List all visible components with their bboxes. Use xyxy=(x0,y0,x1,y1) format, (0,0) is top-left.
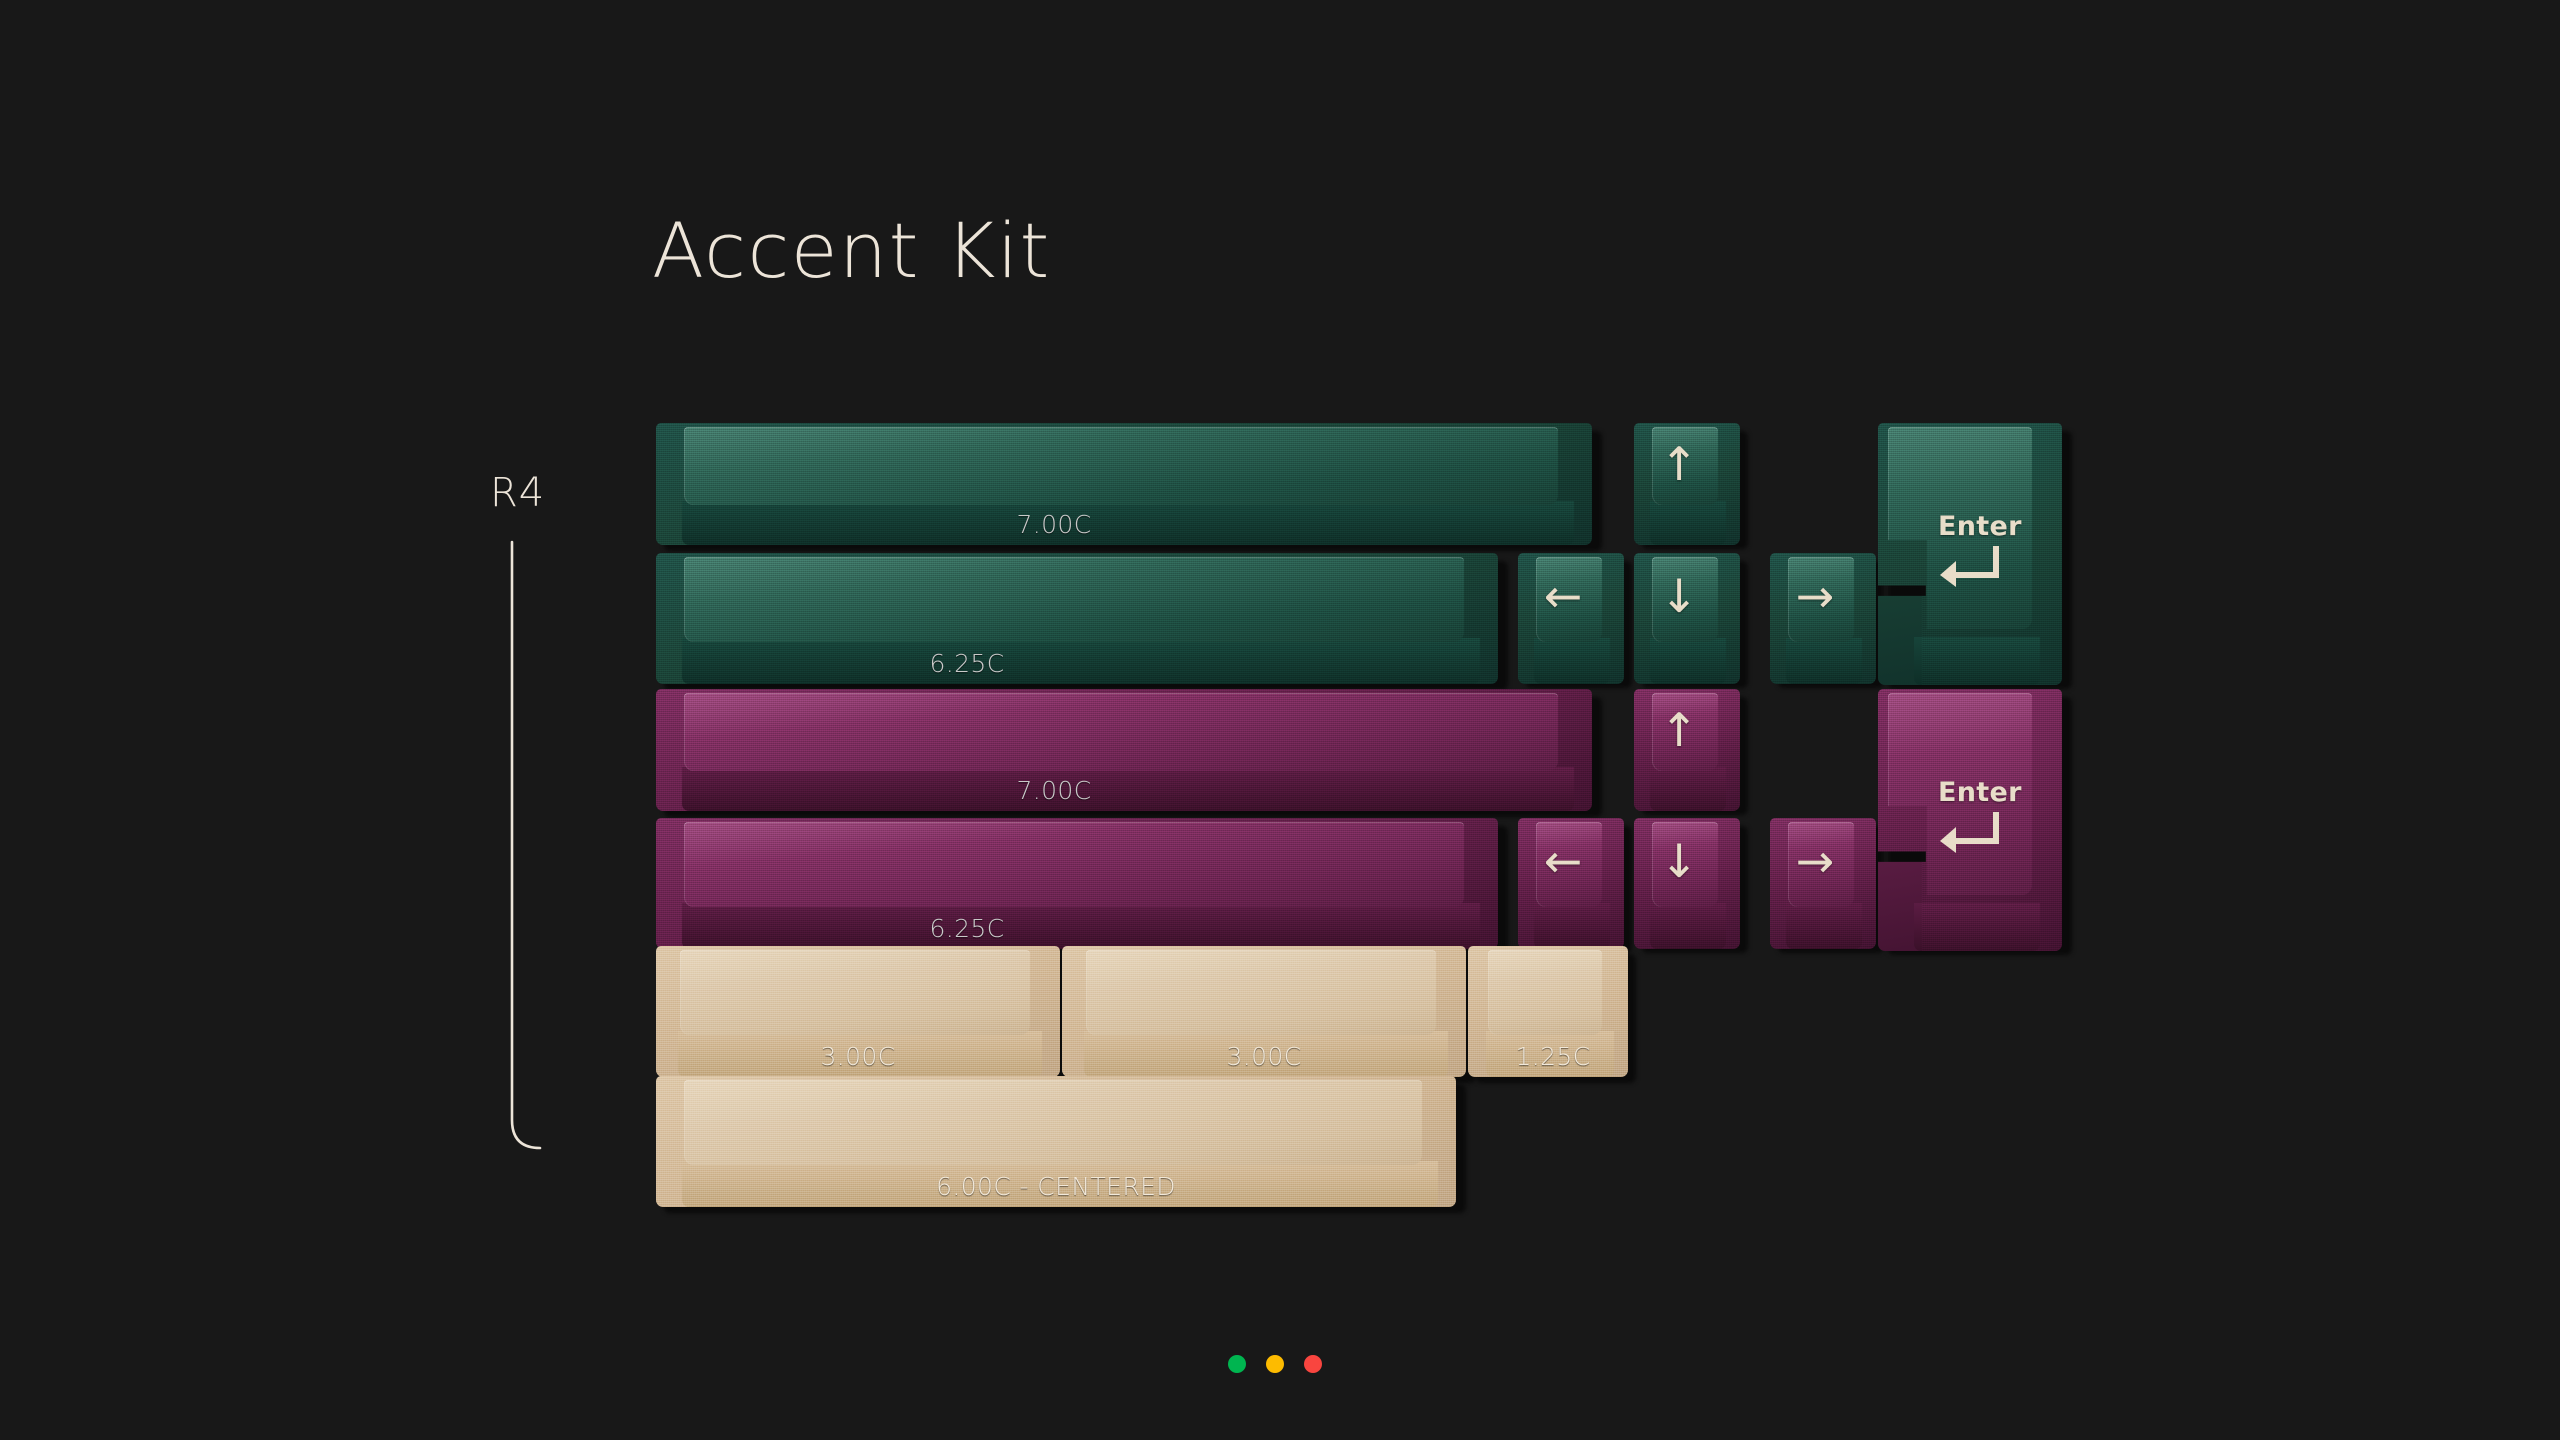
keycap-green-arrow-up[interactable]: ↑ xyxy=(1634,423,1740,545)
cap-size-label: 6.00C - CENTERED xyxy=(656,1172,1456,1201)
keycap-green-enter-iso[interactable]: Enter xyxy=(1878,423,2062,685)
arrow-left-icon: ← xyxy=(1518,838,1608,884)
cap-top-face xyxy=(684,557,1464,642)
cap-top-face xyxy=(684,822,1464,907)
arrow-down-icon: ↓ xyxy=(1634,838,1724,884)
green-dot[interactable] xyxy=(1228,1355,1246,1373)
keycap-beige-125u[interactable]: 1.25C xyxy=(1468,946,1628,1077)
keycap-purple-arrow-down[interactable]: ↓ xyxy=(1634,818,1740,949)
enter-label: Enter xyxy=(1938,779,2022,806)
enter-label: Enter xyxy=(1938,513,2022,540)
cap-size-label: 3.00C xyxy=(656,1042,1060,1071)
keycap-purple-arrow-up[interactable]: ↑ xyxy=(1634,689,1740,811)
arrow-up-icon: ↑ xyxy=(1634,707,1724,753)
cap-top-face xyxy=(680,950,1030,1035)
cap-top-face xyxy=(1488,950,1602,1035)
arrow-up-icon: ↑ xyxy=(1634,441,1724,487)
keycap-purple-spacebar-625u[interactable]: 6.25C xyxy=(656,818,1498,949)
keycap-green-arrow-down[interactable]: ↓ xyxy=(1634,553,1740,684)
arrow-right-icon: → xyxy=(1770,838,1860,884)
cap-top-face xyxy=(1086,950,1436,1035)
cap-size-label: 7.00C xyxy=(656,510,1452,539)
cap-front-face xyxy=(1650,501,1726,545)
cap-top-face xyxy=(684,427,1558,505)
cap-size-label: 6.25C xyxy=(656,914,1278,943)
keycap-board: 7.00C 6.25C ↑ ← xyxy=(0,0,2560,1440)
keycap-beige-3u-right[interactable]: 3.00C xyxy=(1062,946,1466,1077)
keycap-purple-enter-iso[interactable]: Enter xyxy=(1878,689,2062,951)
cap-front-face xyxy=(1786,638,1862,684)
keycap-purple-spacebar-7u[interactable]: 7.00C xyxy=(656,689,1592,811)
cap-front-face xyxy=(1534,638,1610,684)
keycap-beige-6u-centered[interactable]: 6.00C - CENTERED xyxy=(656,1076,1456,1207)
cap-front-face xyxy=(1914,637,2040,685)
enter-return-arrow-icon xyxy=(1936,545,2002,589)
cap-size-label: 6.25C xyxy=(656,649,1278,678)
arrow-left-icon: ← xyxy=(1518,573,1608,619)
page-stage: Accent Kit R4 7.00C 6.25C xyxy=(0,0,2560,1440)
status-dots xyxy=(1228,1355,1322,1373)
keycap-green-arrow-right[interactable]: → xyxy=(1770,553,1876,684)
cap-front-face xyxy=(1650,767,1726,811)
cap-size-label: 3.00C xyxy=(1062,1042,1466,1071)
arrow-right-icon: → xyxy=(1770,573,1860,619)
keycap-purple-arrow-left[interactable]: ← xyxy=(1518,818,1624,949)
keycap-green-spacebar-625u[interactable]: 6.25C xyxy=(656,553,1498,684)
red-dot[interactable] xyxy=(1304,1355,1322,1373)
keycap-green-spacebar-7u[interactable]: 7.00C xyxy=(656,423,1592,545)
cap-top-face xyxy=(684,1080,1422,1165)
cap-front-face xyxy=(1534,903,1610,949)
arrow-down-icon: ↓ xyxy=(1634,573,1724,619)
cap-size-label: 1.25C xyxy=(1478,1042,1628,1071)
enter-return-arrow-icon xyxy=(1936,811,2002,855)
keycap-beige-3u-left[interactable]: 3.00C xyxy=(656,946,1060,1077)
cap-size-label: 7.00C xyxy=(656,776,1452,805)
keycap-green-arrow-left[interactable]: ← xyxy=(1518,553,1624,684)
keycap-purple-arrow-right[interactable]: → xyxy=(1770,818,1876,949)
cap-front-face xyxy=(1786,903,1862,949)
cap-front-face xyxy=(1650,903,1726,949)
cap-top-face xyxy=(684,693,1558,771)
yellow-dot[interactable] xyxy=(1266,1355,1284,1373)
cap-front-face xyxy=(1914,903,2040,951)
cap-front-face xyxy=(1650,638,1726,684)
